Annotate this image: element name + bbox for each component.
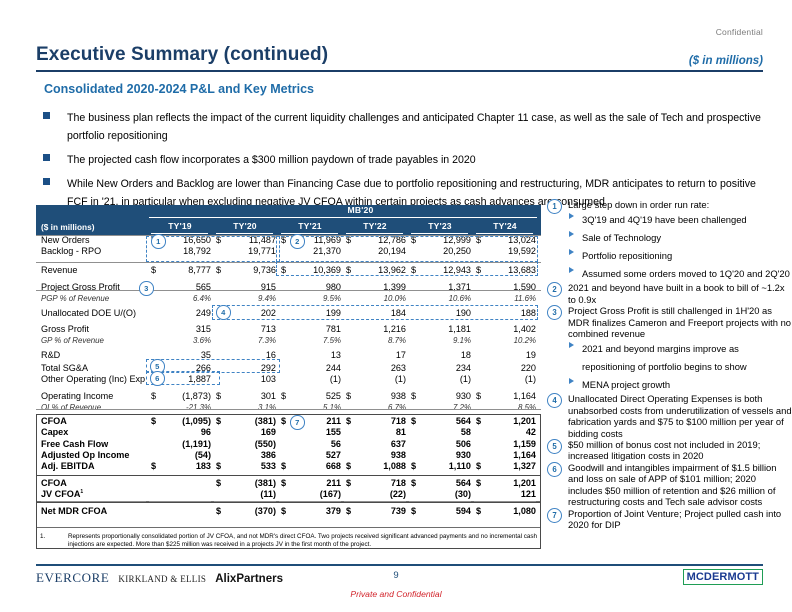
table-row: Other Operating (Inc) Exp1,887103(1)(1)(… bbox=[36, 374, 541, 385]
annotation-text: Unallocated Direct Operating Expenses is… bbox=[568, 393, 792, 439]
table-cell: 1,327 bbox=[474, 461, 536, 471]
row-label: Backlog - RPO bbox=[41, 246, 101, 256]
table-cell: 1,159 bbox=[474, 439, 536, 449]
row-separator bbox=[36, 409, 541, 410]
table-cell: 244 bbox=[279, 363, 341, 373]
table-marker-3[interactable]: 3 bbox=[139, 281, 154, 296]
group-header-row: MB'20 bbox=[36, 205, 541, 218]
column-header-ty19: TY'19 bbox=[149, 221, 211, 231]
row-label: CFOA bbox=[41, 416, 67, 426]
annotation-4: 4Unallocated Direct Operating Expenses i… bbox=[547, 393, 792, 439]
table-cell: 637 bbox=[344, 439, 406, 449]
annotation-marker-4[interactable]: 4 bbox=[547, 393, 562, 408]
footnote-marker: 1 bbox=[80, 489, 83, 495]
table-marker-4[interactable]: 4 bbox=[216, 305, 231, 320]
annotation-subitem: Sale of Technology bbox=[582, 228, 792, 246]
table-cell: 668 bbox=[279, 461, 341, 471]
table-cell: 938 bbox=[344, 391, 406, 401]
col-underline bbox=[216, 233, 273, 234]
annotation-marker-6[interactable]: 6 bbox=[547, 462, 562, 477]
table-cell: 17 bbox=[344, 350, 406, 360]
table-cell: 21,370 bbox=[279, 246, 341, 256]
annotation-subitem-text: 3Q'19 and 4Q'19 have been challenged bbox=[582, 214, 747, 225]
table-cell: 13,024 bbox=[474, 235, 536, 245]
table-row: R&D351613171819 bbox=[36, 350, 541, 361]
table-cell: 56 bbox=[279, 439, 341, 449]
table-cell: 11,969 bbox=[279, 235, 341, 245]
units-label: ($ in millions) bbox=[689, 55, 763, 67]
table-cell: 81 bbox=[344, 427, 406, 437]
annotation-text: Goodwill and intangibles impairment of $… bbox=[568, 462, 792, 508]
table-cell: 379 bbox=[279, 506, 341, 516]
row-label: GP % of Revenue bbox=[41, 336, 104, 345]
footnote: 1. Represents proportionally consolidate… bbox=[40, 533, 540, 549]
table-cell: 8.5% bbox=[474, 403, 536, 412]
table-cell: 7.3% bbox=[214, 336, 276, 345]
row-label: R&D bbox=[41, 350, 60, 360]
table-cell: (1,095) bbox=[149, 416, 211, 426]
table-cell: 7.5% bbox=[279, 336, 341, 345]
table-cell: 564 bbox=[409, 478, 471, 488]
subtotal-rule bbox=[149, 501, 211, 502]
row-label: OI % of Revenue bbox=[41, 403, 101, 412]
table-cell: 315 bbox=[149, 324, 211, 334]
table-cell: 18 bbox=[409, 350, 471, 360]
column-header-ty21: TY'21 bbox=[279, 221, 341, 231]
table-cell: 11.6% bbox=[474, 294, 536, 303]
private-confidential-label: Private and Confidential bbox=[0, 589, 792, 599]
table-cell: 506 bbox=[409, 439, 471, 449]
subtotal-rule bbox=[409, 501, 471, 502]
table-row: Backlog - RPO18,79219,77121,37020,19420,… bbox=[36, 246, 541, 257]
bullet-text: The projected cash flow incorporates a $… bbox=[67, 154, 476, 166]
annotation-subitem-text: Portfolio repositioning bbox=[582, 250, 672, 261]
annotation-marker-5[interactable]: 5 bbox=[547, 439, 562, 454]
table-cell: 16 bbox=[214, 350, 276, 360]
page-number: 9 bbox=[0, 570, 792, 581]
table-cell: 190 bbox=[409, 308, 471, 318]
table-cell: 12,786 bbox=[344, 235, 406, 245]
table-cell: 533 bbox=[214, 461, 276, 471]
table-cell: 58 bbox=[409, 427, 471, 437]
table-cell: 3.1% bbox=[214, 403, 276, 412]
annotation-text: 2021 and beyond have built in a book to … bbox=[568, 282, 792, 305]
row-label: New Orders bbox=[41, 235, 90, 245]
table-cell: (54) bbox=[149, 450, 211, 460]
table-cell: (550) bbox=[214, 439, 276, 449]
table-cell: 121 bbox=[474, 489, 536, 499]
table-cell: 292 bbox=[214, 363, 276, 373]
annotation-subitem-text: Assumed some orders moved to 1Q'20 and 2… bbox=[582, 268, 790, 279]
table-row: JV CFOA1(11)(167)(22)(30)121 bbox=[36, 489, 541, 500]
list-item: The business plan reflects the impact of… bbox=[40, 108, 764, 144]
table-row: GP % of Revenue3.6%7.3%7.5%8.7%9.1%10.2% bbox=[36, 335, 541, 346]
table-cell: 96 bbox=[149, 427, 211, 437]
column-header-ty23: TY'23 bbox=[409, 221, 471, 231]
column-header-ty22: TY'22 bbox=[344, 221, 406, 231]
table-cell: 930 bbox=[409, 391, 471, 401]
annotation-marker-2[interactable]: 2 bbox=[547, 282, 562, 297]
annotation-text: Proportion of Joint Venture; Project pul… bbox=[568, 508, 792, 531]
table-cell: 220 bbox=[474, 363, 536, 373]
table-row: Total SG&A266292244263234220 bbox=[36, 363, 541, 374]
table-cell: 1,216 bbox=[344, 324, 406, 334]
slide-page: Confidential Executive Summary (continue… bbox=[0, 0, 792, 612]
table-cell: 42 bbox=[474, 427, 536, 437]
annotation-subitem: Assumed some orders moved to 1Q'20 and 2… bbox=[582, 264, 792, 282]
table-cell: 386 bbox=[214, 450, 276, 460]
row-label: Net MDR CFOA bbox=[41, 506, 107, 516]
bullet-text: The business plan reflects the impact of… bbox=[67, 112, 761, 142]
row-label: Total SG&A bbox=[41, 363, 88, 373]
annotation-subitem: 2021 and beyond margins improve as repos… bbox=[582, 339, 792, 375]
table-cell: (1,873) bbox=[149, 391, 211, 401]
table-cell: 1,181 bbox=[409, 324, 471, 334]
table-cell: 1,164 bbox=[474, 450, 536, 460]
row-label: JV CFOA1 bbox=[41, 489, 83, 499]
annotation-5: 5$50 million of bonus cost not included … bbox=[547, 439, 792, 462]
annotation-3: 3Project Gross Profit is still challenge… bbox=[547, 305, 792, 339]
table-cell: 13,962 bbox=[344, 265, 406, 275]
footer-divider bbox=[36, 564, 763, 566]
table-cell: 3.6% bbox=[149, 336, 211, 345]
table-cell: 103 bbox=[214, 374, 276, 384]
title-divider bbox=[36, 70, 763, 72]
table-cell: 11,487 bbox=[214, 235, 276, 245]
table-cell: (1) bbox=[474, 374, 536, 384]
table-row: Operating Income$(1,873)$301$525$938$930… bbox=[36, 391, 541, 402]
row-separator bbox=[36, 262, 541, 263]
annotation-subitem-text: MENA project growth bbox=[582, 379, 670, 390]
table-cell: 19 bbox=[474, 350, 536, 360]
table-cell: 301 bbox=[214, 391, 276, 401]
table-cell: 20,194 bbox=[344, 246, 406, 256]
table-cell: 20,250 bbox=[409, 246, 471, 256]
row-label: Free Cash Flow bbox=[41, 439, 108, 449]
table-cell: 1,080 bbox=[474, 506, 536, 516]
table-cell: 1,201 bbox=[474, 478, 536, 488]
table-marker-7[interactable]: 7 bbox=[290, 415, 305, 430]
table-cell: (167) bbox=[279, 489, 341, 499]
row-label: PGP % of Revenue bbox=[41, 294, 109, 303]
table-cell: 10.0% bbox=[344, 294, 406, 303]
table-cell: 263 bbox=[344, 363, 406, 373]
annotation-text: Large step down in order run rate: bbox=[568, 199, 792, 210]
col-underline bbox=[281, 233, 338, 234]
table-cell: 19,592 bbox=[474, 246, 536, 256]
triangle-bullet-icon bbox=[569, 231, 574, 237]
list-item: The projected cash flow incorporates a $… bbox=[40, 150, 764, 168]
table-cell: 7.2% bbox=[409, 403, 471, 412]
table-cell: 211 bbox=[279, 478, 341, 488]
annotation-marker-1[interactable]: 1 bbox=[547, 199, 562, 214]
column-header-row: ($ in millions) TY'19 TY'20 TY'21 TY'22 … bbox=[36, 218, 541, 235]
table-cell: (1) bbox=[409, 374, 471, 384]
annotation-text: Project Gross Profit is still challenged… bbox=[568, 305, 792, 339]
footnote-text: Represents proportionally consolidated p… bbox=[68, 533, 540, 549]
table-row: New Orders$16,650$11,487$11,969$12,786$1… bbox=[36, 235, 541, 246]
row-label: Gross Profit bbox=[41, 324, 89, 334]
table-unit-label: ($ in millions) bbox=[41, 222, 94, 232]
table-cell: 188 bbox=[474, 308, 536, 318]
footnote-number: 1. bbox=[40, 533, 45, 540]
table-row: Gross Profit3157137811,2161,1811,402 bbox=[36, 324, 541, 335]
table-cell: 249 bbox=[149, 308, 211, 318]
mcdermott-logo: MCDERMOTT bbox=[683, 569, 763, 585]
subtotal-rule bbox=[41, 501, 146, 502]
row-separator bbox=[36, 290, 541, 291]
annotation-1: 1Large step down in order run rate: bbox=[547, 199, 792, 210]
table-row: Adjusted Op Income(54)3865279389301,164 bbox=[36, 450, 541, 461]
subtotal-rule bbox=[214, 501, 276, 502]
table-cell: 525 bbox=[279, 391, 341, 401]
table-cell: 9.1% bbox=[409, 336, 471, 345]
triangle-bullet-icon bbox=[569, 213, 574, 219]
table-cell: (381) bbox=[214, 416, 276, 426]
row-label: Unallocated DOE U/(O) bbox=[41, 308, 136, 318]
table-row: Net MDR CFOA$(370)$379$739$594$1,080 bbox=[36, 506, 541, 517]
row-separator bbox=[36, 235, 541, 236]
table-header: MB'20 ($ in millions) TY'19 TY'20 TY'21 … bbox=[36, 205, 541, 235]
table-cell: 1,088 bbox=[344, 461, 406, 471]
table-cell: 10.2% bbox=[474, 336, 536, 345]
table-cell: 13 bbox=[279, 350, 341, 360]
row-label: CFOA bbox=[41, 478, 67, 488]
table-row: Free Cash Flow(1,191)(550)566375061,159 bbox=[36, 439, 541, 450]
table-cell: 713 bbox=[214, 324, 276, 334]
table-cell: 8.7% bbox=[344, 336, 406, 345]
table-row: CFOA$(1,095)$(381)$211$718$564$1,201 bbox=[36, 416, 541, 427]
square-bullet-icon bbox=[43, 178, 50, 185]
financials-table: MB'20 ($ in millions) TY'19 TY'20 TY'21 … bbox=[36, 205, 541, 235]
col-underline bbox=[411, 233, 468, 234]
table-cell: (30) bbox=[409, 489, 471, 499]
table-row: Adj. EBITDA$183$533$668$1,088$1,110$1,32… bbox=[36, 461, 541, 472]
annotation-6: 6Goodwill and intangibles impairment of … bbox=[547, 462, 792, 508]
table-cell: 12,999 bbox=[409, 235, 471, 245]
table-row: OI % of Revenue-21.3%3.1%5.1%6.7%7.2%8.5… bbox=[36, 402, 541, 413]
table-row: CFOA$(381)$211$718$564$1,201 bbox=[36, 478, 541, 489]
table-cell: 5.1% bbox=[279, 403, 341, 412]
table-cell: 169 bbox=[214, 427, 276, 437]
group-header-label: MB'20 bbox=[184, 205, 537, 215]
triangle-bullet-icon bbox=[569, 267, 574, 273]
row-label: Adjusted Op Income bbox=[41, 450, 129, 460]
table-marker-2[interactable]: 2 bbox=[290, 234, 305, 249]
table-marker-1[interactable]: 1 bbox=[151, 234, 166, 249]
table-cell: (11) bbox=[214, 489, 276, 499]
table-cell: 13,683 bbox=[474, 265, 536, 275]
annotation-text: $50 million of bonus cost not included i… bbox=[568, 439, 792, 462]
table-cell: 234 bbox=[409, 363, 471, 373]
triangle-bullet-icon bbox=[569, 249, 574, 255]
annotation-2: 22021 and beyond have built in a book to… bbox=[547, 282, 792, 305]
annotations-list: 1Large step down in order run rate:3Q'19… bbox=[547, 199, 792, 530]
table-cell: 718 bbox=[344, 478, 406, 488]
col-underline bbox=[346, 233, 403, 234]
subtotal-rule bbox=[474, 501, 536, 502]
triangle-bullet-icon bbox=[569, 378, 574, 384]
table-cell: (370) bbox=[214, 506, 276, 516]
table-cell: 12,943 bbox=[409, 265, 471, 275]
annotation-subitem: Portfolio repositioning bbox=[582, 246, 792, 264]
table-cell: 594 bbox=[409, 506, 471, 516]
col-underline bbox=[476, 233, 533, 234]
confidential-label: Confidential bbox=[716, 27, 763, 37]
table-cell: 9.4% bbox=[214, 294, 276, 303]
table-cell: 9.5% bbox=[279, 294, 341, 303]
row-label: Capex bbox=[41, 427, 68, 437]
row-label: Other Operating (Inc) Exp bbox=[41, 374, 145, 384]
table-cell: 155 bbox=[279, 427, 341, 437]
table-row: PGP % of Revenue6.4%9.4%9.5%10.0%10.6%11… bbox=[36, 293, 541, 304]
row-separator bbox=[36, 527, 541, 528]
table-cell: 6.4% bbox=[149, 294, 211, 303]
table-cell: 211 bbox=[279, 416, 341, 426]
table-marker-6[interactable]: 6 bbox=[150, 371, 165, 386]
table-cell: 1,164 bbox=[474, 391, 536, 401]
annotation-marker-3[interactable]: 3 bbox=[547, 305, 562, 320]
table-cell: (22) bbox=[344, 489, 406, 499]
table-cell: 527 bbox=[279, 450, 341, 460]
row-label: Adj. EBITDA bbox=[41, 461, 95, 471]
square-bullet-icon bbox=[43, 154, 50, 161]
annotation-subitem: MENA project growth bbox=[582, 375, 792, 393]
annotation-subitem-text: 2021 and beyond margins improve as repos… bbox=[582, 343, 747, 372]
table-cell: 10.6% bbox=[409, 294, 471, 303]
table-row: Capex96169155815842 bbox=[36, 427, 541, 438]
table-cell: 739 bbox=[344, 506, 406, 516]
table-cell: 1,402 bbox=[474, 324, 536, 334]
table-cell: (1,191) bbox=[149, 439, 211, 449]
table-cell: 183 bbox=[149, 461, 211, 471]
table-cell: (1) bbox=[279, 374, 341, 384]
table-cell: 184 bbox=[344, 308, 406, 318]
subtotal-rule bbox=[344, 501, 406, 502]
table-cell: 1,201 bbox=[474, 416, 536, 426]
table-cell: 1,110 bbox=[409, 461, 471, 471]
table-row: Revenue$8,777$9,736$10,369$13,962$12,943… bbox=[36, 265, 541, 276]
subtotal-rule bbox=[279, 501, 341, 502]
annotation-marker-7[interactable]: 7 bbox=[547, 508, 562, 523]
table-cell: -21.3% bbox=[149, 403, 211, 412]
table-cell: 8,777 bbox=[149, 265, 211, 275]
table-cell: 930 bbox=[409, 450, 471, 460]
row-label: Operating Income bbox=[41, 391, 113, 401]
table-row: Unallocated DOE U/(O)249202199184190188 bbox=[36, 308, 541, 319]
table-row: Project Gross Profit5659159801,3991,3711… bbox=[36, 282, 541, 293]
table-cell: 9,736 bbox=[214, 265, 276, 275]
table-cell: 718 bbox=[344, 416, 406, 426]
annotation-subitem-text: Sale of Technology bbox=[582, 232, 661, 243]
table-cell: 19,771 bbox=[214, 246, 276, 256]
square-bullet-icon bbox=[43, 112, 50, 119]
column-header-ty20: TY'20 bbox=[214, 221, 276, 231]
triangle-bullet-icon bbox=[569, 342, 574, 348]
page-title: Executive Summary (continued) bbox=[36, 44, 328, 66]
table-cell: 199 bbox=[279, 308, 341, 318]
table-cell: 10,369 bbox=[279, 265, 341, 275]
section-subtitle: Consolidated 2020-2024 P&L and Key Metri… bbox=[44, 82, 314, 96]
table-cell: 6.7% bbox=[344, 403, 406, 412]
table-cell: (381) bbox=[214, 478, 276, 488]
annotation-subitem: 3Q'19 and 4Q'19 have been challenged bbox=[582, 210, 792, 228]
table-cell: (1) bbox=[344, 374, 406, 384]
annotation-7: 7Proportion of Joint Venture; Project pu… bbox=[547, 508, 792, 531]
table-cell: 781 bbox=[279, 324, 341, 334]
table-cell: 564 bbox=[409, 416, 471, 426]
table-cell: 938 bbox=[344, 450, 406, 460]
row-label: Revenue bbox=[41, 265, 77, 275]
column-header-ty24: TY'24 bbox=[474, 221, 536, 231]
